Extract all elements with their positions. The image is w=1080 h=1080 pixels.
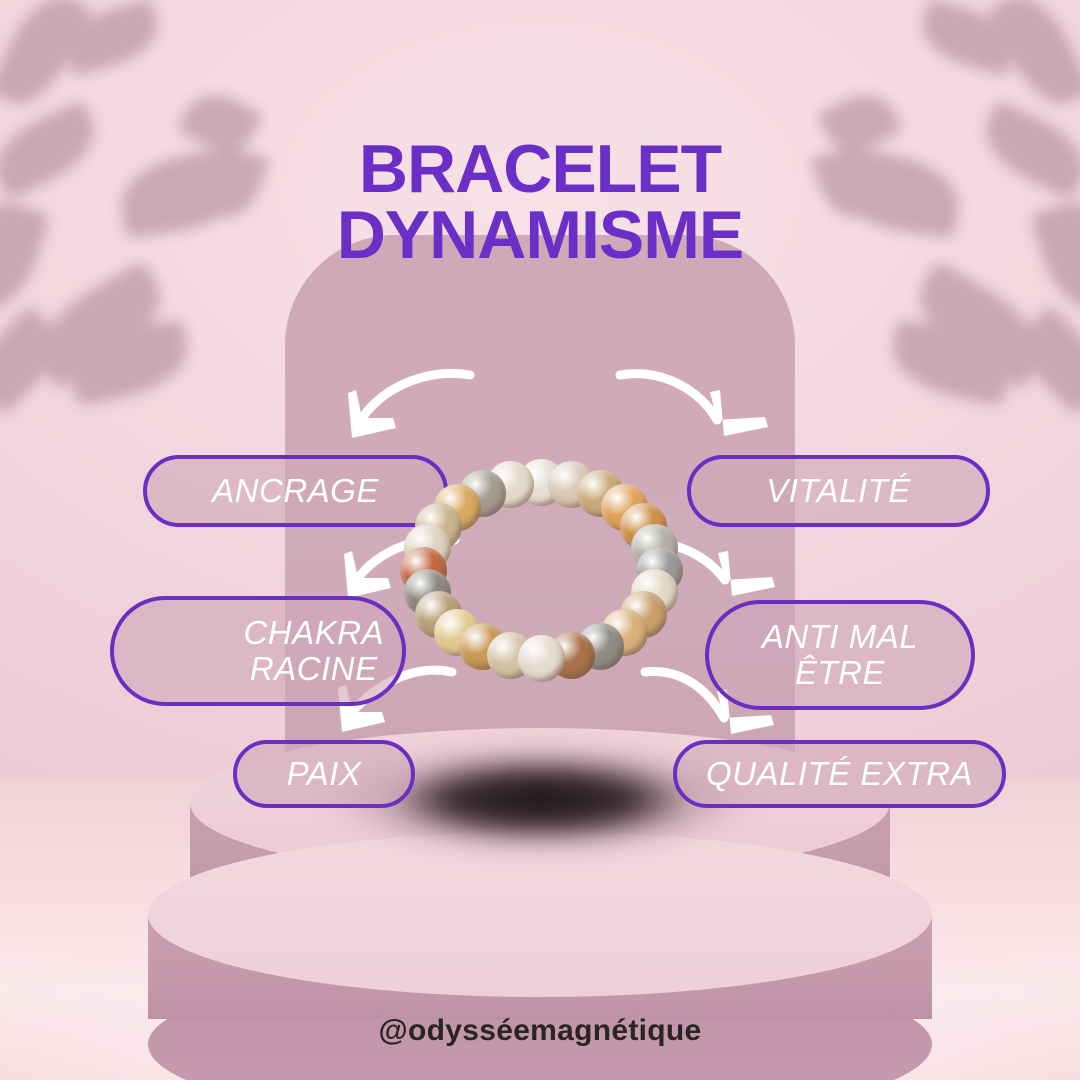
page-title: BRACELET DYNAMISME [0, 136, 1080, 269]
benefit-pill-qualite-extra[interactable]: QUALITÉ EXTRA [673, 740, 1006, 808]
benefit-label-antimal-line2: ÊTRE [795, 654, 885, 691]
title-line-2: DYNAMISME [0, 202, 1080, 269]
bracelet-bead [518, 635, 565, 682]
benefit-label-vitalite: VITALITÉ [766, 473, 911, 509]
brand-handle: @odysséemagnétique [0, 1014, 1080, 1048]
benefit-pill-chakra-racine[interactable]: CHAKRA RACINE [110, 596, 406, 706]
benefit-label-qualite-extra: QUALITÉ EXTRA [706, 756, 973, 792]
benefit-label-chakra-line2: RACINE [250, 650, 378, 687]
benefit-label-chakra-racine: CHAKRA RACINE [243, 615, 384, 686]
benefit-label-ancrage: ANCRAGE [212, 473, 379, 509]
benefit-label-chakra-line1: CHAKRA [243, 614, 384, 651]
product-bracelet-image [400, 455, 682, 685]
benefit-label-antimal-line1: ANTI MAL [762, 618, 918, 655]
benefit-label-paix: PAIX [287, 756, 362, 792]
benefit-pill-vitalite[interactable]: VITALITÉ [687, 455, 990, 527]
benefit-label-anti-mal-etre: ANTI MAL ÊTRE [762, 619, 918, 690]
benefit-pill-ancrage[interactable]: ANCRAGE [143, 455, 448, 527]
benefit-pill-anti-mal-etre[interactable]: ANTI MAL ÊTRE [705, 600, 975, 710]
infographic-canvas: BRACELET DYNAMISME ANCRAGE VITALITÉ [0, 0, 1080, 1080]
benefit-pill-paix[interactable]: PAIX [233, 740, 415, 808]
title-line-1: BRACELET [0, 136, 1080, 203]
